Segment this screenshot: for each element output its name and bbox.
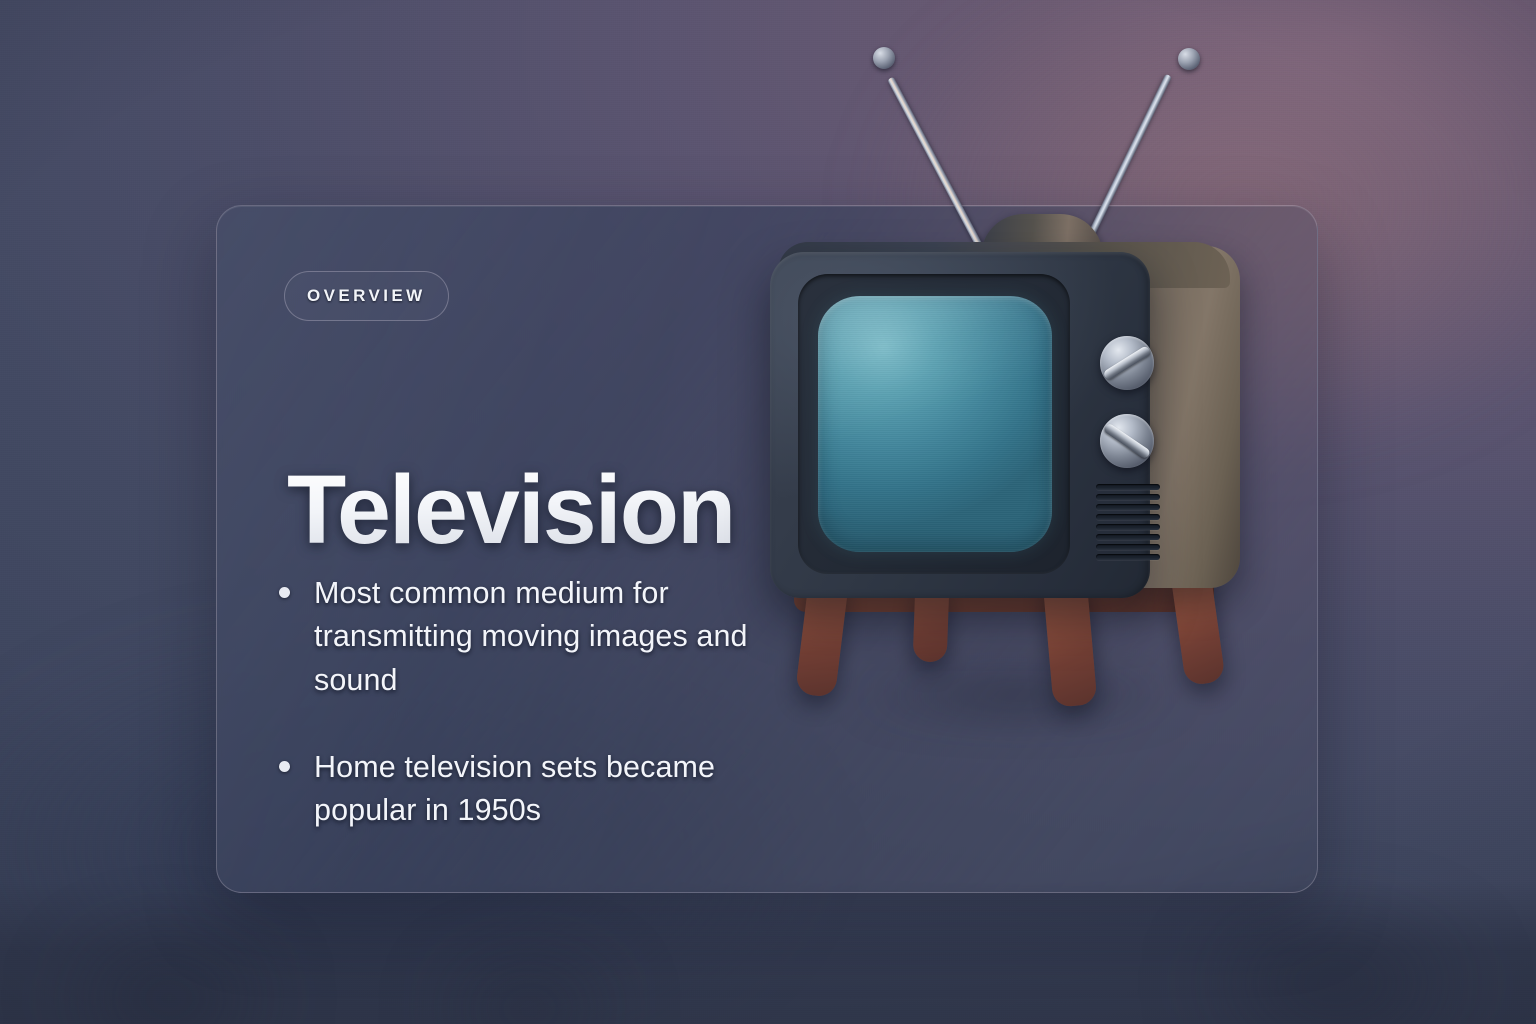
knob-slot-indicator (1102, 345, 1151, 381)
overview-badge-label: OVERVIEW (307, 286, 426, 306)
bullet-dot-icon (279, 761, 290, 772)
bullet-list: Most common medium for transmitting movi… (279, 572, 749, 832)
tuner-knob-upper (1100, 336, 1154, 390)
grille-slat (1096, 514, 1160, 520)
television-screen (818, 296, 1052, 552)
antenna-tip-left (873, 47, 895, 69)
speaker-grille (1096, 484, 1160, 562)
grille-slat (1096, 534, 1160, 540)
grille-slat (1096, 494, 1160, 500)
grille-slat (1096, 544, 1160, 550)
grille-slat (1096, 554, 1160, 560)
tuner-knob-lower (1100, 414, 1154, 468)
list-item: Most common medium for transmitting movi… (279, 572, 749, 702)
antenna-tip-right (1178, 48, 1200, 70)
retro-television-illustration (742, 18, 1302, 708)
bullet-dot-icon (279, 587, 290, 598)
overview-badge: OVERVIEW (284, 271, 449, 321)
antenna-rod-right (1082, 74, 1172, 248)
list-item-text: Home television sets became popular in 1… (314, 746, 749, 833)
page-title: Television (287, 461, 734, 558)
knob-slot-indicator (1103, 422, 1152, 459)
grille-slat (1096, 504, 1160, 510)
grille-slat (1096, 524, 1160, 530)
list-item: Home television sets became popular in 1… (279, 746, 749, 833)
screen-bezel (798, 274, 1070, 574)
antenna-rod-left (887, 77, 982, 248)
television-ground-shadow (782, 666, 1252, 724)
list-item-text: Most common medium for transmitting movi… (314, 572, 749, 702)
grille-slat (1096, 484, 1160, 490)
television-front-panel (770, 252, 1150, 598)
